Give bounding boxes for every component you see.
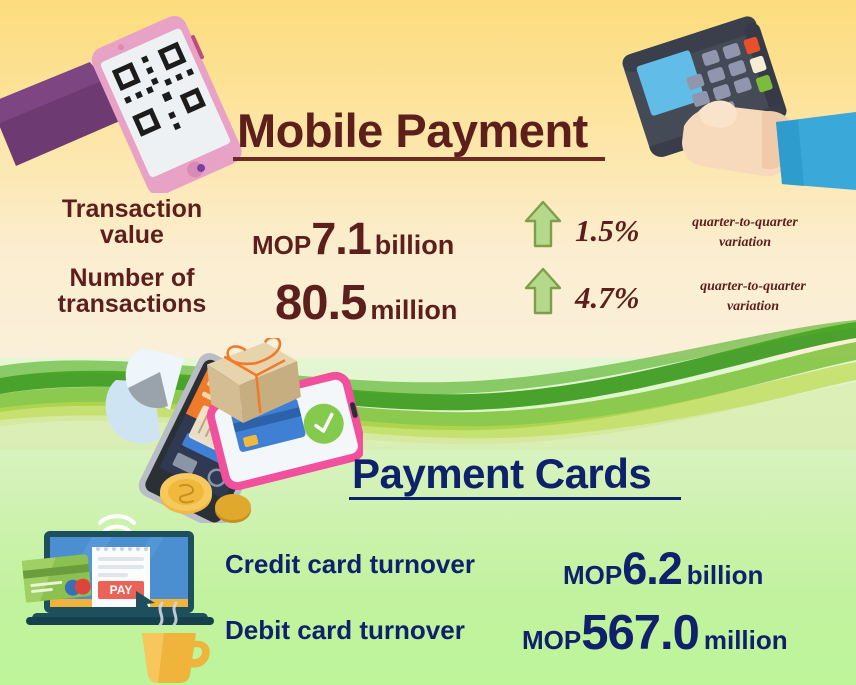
debit-card-turnover-currency: MOP — [522, 625, 581, 655]
debit-card-turnover-figure: MOP567.0million — [522, 605, 788, 661]
infographic-canvas: Mobile Payment Transaction value MOP7.1b… — [0, 0, 856, 685]
number-of-transactions-number: 80.5 — [275, 276, 366, 330]
number-of-transactions-change: 4.7% — [575, 280, 640, 316]
transaction-value-change: 1.5% — [575, 213, 640, 249]
number-of-transactions-change-note-line1: quarter-to-quarter — [700, 279, 806, 294]
transaction-value-label: Transaction value — [28, 196, 236, 249]
transaction-value-unit: billion — [375, 230, 454, 260]
transaction-value-change-note-line1: quarter-to-quarter — [692, 215, 798, 230]
arrow-up-icon — [524, 199, 562, 249]
credit-card-turnover-unit: billion — [687, 560, 764, 590]
transaction-value-change-note-line2: variation — [719, 235, 771, 250]
transaction-value-figure: MOP7.1billion — [252, 213, 454, 265]
mobile-payment-title-underline — [233, 157, 605, 161]
transaction-value-change-note: quarter-to-quarter variation — [665, 213, 825, 254]
number-of-transactions-change-note-line2: variation — [727, 299, 779, 314]
number-of-transactions-unit: million — [370, 295, 457, 325]
transaction-value-label-line2: value — [100, 221, 164, 249]
credit-card-turnover-figure: MOP6.2billion — [563, 543, 763, 595]
credit-card-turnover-number: 6.2 — [622, 543, 682, 594]
debit-card-turnover-unit: million — [704, 625, 788, 655]
number-of-transactions-change-note: quarter-to-quarter variation — [673, 277, 833, 318]
transaction-value-currency: MOP — [252, 230, 311, 260]
transaction-value-label-line1: Transaction — [62, 195, 202, 223]
payment-cards-title-underline — [349, 497, 681, 500]
payment-cards-title: Payment Cards — [352, 450, 651, 498]
number-of-transactions-label-line2: transactions — [58, 290, 207, 318]
transaction-value-number: 7.1 — [311, 213, 371, 264]
number-of-transactions-label: Number of transactions — [28, 265, 236, 318]
debit-card-turnover-number: 567.0 — [581, 606, 699, 660]
number-of-transactions-label-line1: Number of — [70, 264, 195, 292]
arrow-up-icon — [524, 266, 562, 316]
mobile-payment-title: Mobile Payment — [237, 103, 588, 158]
debit-card-turnover-label: Debit card turnover — [225, 615, 465, 646]
number-of-transactions-figure: 80.5million — [275, 275, 457, 331]
credit-card-turnover-currency: MOP — [563, 560, 622, 590]
credit-card-turnover-label: Credit card turnover — [225, 549, 475, 580]
